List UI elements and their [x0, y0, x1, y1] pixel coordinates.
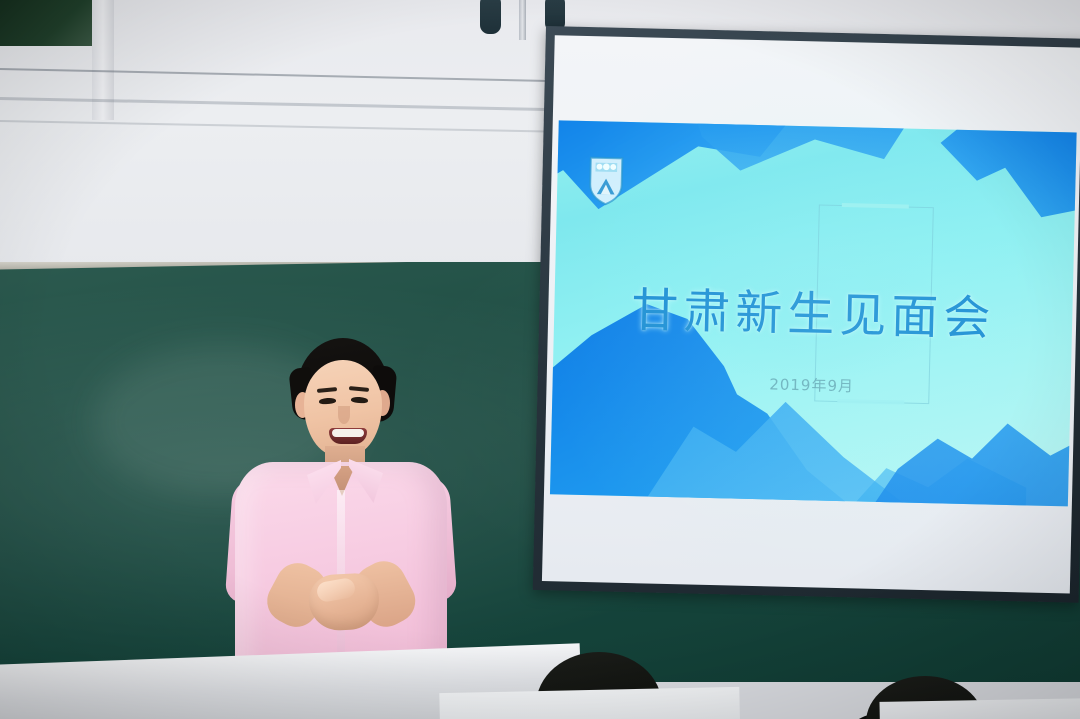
teeth: [332, 429, 364, 437]
projection-screen-surface: 甘肃新生见面会 2019年9月: [542, 35, 1080, 593]
wall-corner-patch: [0, 0, 96, 46]
slide-frame-gap-bottom: [837, 399, 904, 405]
nose: [338, 406, 350, 424]
slide-title: 甘肃新生见面会: [554, 270, 1073, 351]
watercolor-mountain-bottom-right: [871, 389, 1077, 506]
front-desk-center: [439, 687, 740, 719]
front-desk-right: [879, 698, 1080, 719]
classroom-photo: 甘肃新生见面会 2019年9月: [0, 0, 1080, 719]
wall-strip-icon: [519, 0, 526, 40]
watercolor-shape-top-left-2: [692, 120, 911, 199]
watercolor-shape-top-right: [929, 121, 1076, 222]
hanging-fixture-left-icon: [480, 0, 501, 34]
projection-screen-frame: 甘肃新生见面会 2019年9月: [533, 26, 1080, 603]
presentation-slide: 甘肃新生见面会 2019年9月: [550, 120, 1076, 506]
university-crest-icon: [586, 139, 627, 222]
smiling-mouth: [329, 428, 367, 444]
